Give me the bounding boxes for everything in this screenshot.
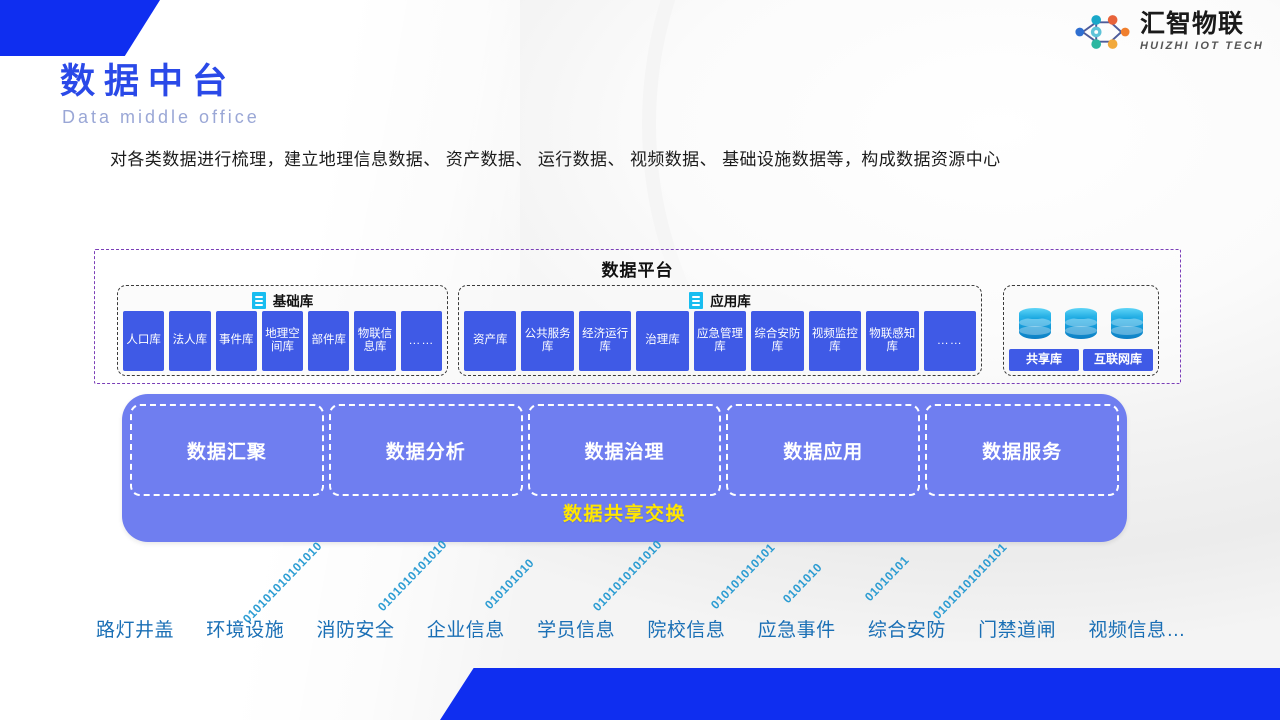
brand-name-en: HUIZHI IOT TECH (1140, 41, 1264, 52)
binary-stream: 01010101 (862, 553, 912, 604)
domain-tag[interactable]: 路灯井盖 (96, 615, 174, 642)
library-cell[interactable]: 视频监控库 (809, 311, 861, 371)
data-platform-title: 数据平台 (95, 256, 1180, 281)
library-cell[interactable]: 资产库 (464, 311, 516, 371)
domain-tag[interactable]: 院校信息 (647, 615, 725, 642)
slide-canvas: 汇智物联 HUIZHI IOT TECH 数据中台 Data middle of… (0, 0, 1280, 720)
capability-card[interactable]: 数据应用 (726, 404, 920, 496)
application-library-header: 应用库 (459, 290, 981, 310)
binary-stream: 0101010101010 (590, 537, 665, 614)
domain-tag[interactable]: 门禁道闸 (978, 615, 1056, 642)
library-cell[interactable]: 治理库 (636, 311, 688, 371)
application-library-cells: 资产库 公共服务库 经济运行库 治理库 应急管理库 综合安防库 视频监控库 物联… (464, 311, 976, 371)
domain-tag[interactable]: 应急事件 (758, 615, 836, 642)
library-cell[interactable]: 部件库 (308, 311, 349, 371)
library-cell[interactable]: 共享库 (1009, 349, 1079, 371)
library-cell[interactable]: 地理空间库 (262, 311, 303, 371)
library-cell[interactable]: 法人库 (169, 311, 210, 371)
shared-library-cells: 共享库 互联网库 (1009, 349, 1153, 371)
library-cell-more[interactable]: …… (401, 311, 442, 371)
capability-card-row: 数据汇聚 数据分析 数据治理 数据应用 数据服务 (130, 404, 1119, 496)
database-cylinder-icon (1111, 308, 1143, 342)
base-library-group: 基础库 人口库 法人库 事件库 地理空间库 部件库 物联信息库 …… (117, 285, 448, 376)
library-cell[interactable]: 应急管理库 (694, 311, 746, 371)
data-exchange-label: 数据共享交换 (122, 499, 1127, 526)
page-description: 对各类数据进行梳理，建立地理信息数据、 资产数据、 运行数据、 视频数据、 基础… (110, 138, 1175, 182)
database-stack-icon (252, 292, 266, 309)
application-library-group: 应用库 资产库 公共服务库 经济运行库 治理库 应急管理库 综合安防库 视频监控… (458, 285, 982, 376)
domain-tag[interactable]: 综合安防 (868, 615, 946, 642)
database-stack-icon (689, 292, 703, 309)
library-cell[interactable]: 人口库 (123, 311, 164, 371)
database-cylinder-icon (1019, 308, 1051, 342)
capability-card[interactable]: 数据汇聚 (130, 404, 324, 496)
capability-band: 数据汇聚 数据分析 数据治理 数据应用 数据服务 数据共享交换 (122, 394, 1127, 542)
data-platform-container: 数据平台 基础库 人口库 法人库 事件库 地理空间库 部件库 物联信息库 …… … (94, 249, 1181, 384)
database-cylinder-icon (1065, 308, 1097, 342)
domain-tag[interactable]: 企业信息 (427, 615, 505, 642)
molecule-network-icon (1073, 10, 1131, 54)
base-library-cells: 人口库 法人库 事件库 地理空间库 部件库 物联信息库 …… (123, 311, 442, 371)
brand-logo: 汇智物联 HUIZHI IOT TECH (1073, 10, 1264, 54)
binary-stream: 0101010 (780, 560, 825, 606)
corner-accent-bottom (0, 668, 1280, 720)
binary-stream: 01010101010101 (930, 540, 1010, 622)
library-cell[interactable]: 综合安防库 (751, 311, 803, 371)
capability-card[interactable]: 数据服务 (925, 404, 1119, 496)
page-title: 数据中台 (60, 64, 236, 99)
domain-tag[interactable]: 消防安全 (317, 615, 395, 642)
domain-tag[interactable]: 视频信息… (1088, 615, 1186, 642)
shared-library-group: 共享库 互联网库 (1003, 285, 1159, 376)
base-library-header: 基础库 (118, 290, 447, 310)
library-cell[interactable]: 互联网库 (1083, 349, 1153, 371)
library-cell-more[interactable]: …… (924, 311, 976, 371)
brand-name-cn: 汇智物联 (1140, 12, 1264, 37)
capability-card[interactable]: 数据治理 (528, 404, 722, 496)
library-cell[interactable]: 物联感知库 (866, 311, 918, 371)
base-library-label: 基础库 (273, 290, 314, 310)
binary-stream: 010101010101 (708, 540, 778, 612)
application-library-label: 应用库 (710, 290, 751, 310)
library-cell[interactable]: 公共服务库 (521, 311, 573, 371)
domain-tag-row: 路灯井盖 环境设施 消防安全 企业信息 学员信息 院校信息 应急事件 综合安防 … (96, 615, 1186, 642)
page-subtitle: Data middle office (62, 108, 260, 126)
capability-card[interactable]: 数据分析 (329, 404, 523, 496)
library-cell[interactable]: 物联信息库 (354, 311, 395, 371)
library-cell[interactable]: 经济运行库 (579, 311, 631, 371)
library-cell[interactable]: 事件库 (216, 311, 257, 371)
domain-tag[interactable]: 学员信息 (537, 615, 615, 642)
domain-tag[interactable]: 环境设施 (206, 615, 284, 642)
database-cylinder-row (1004, 308, 1158, 348)
